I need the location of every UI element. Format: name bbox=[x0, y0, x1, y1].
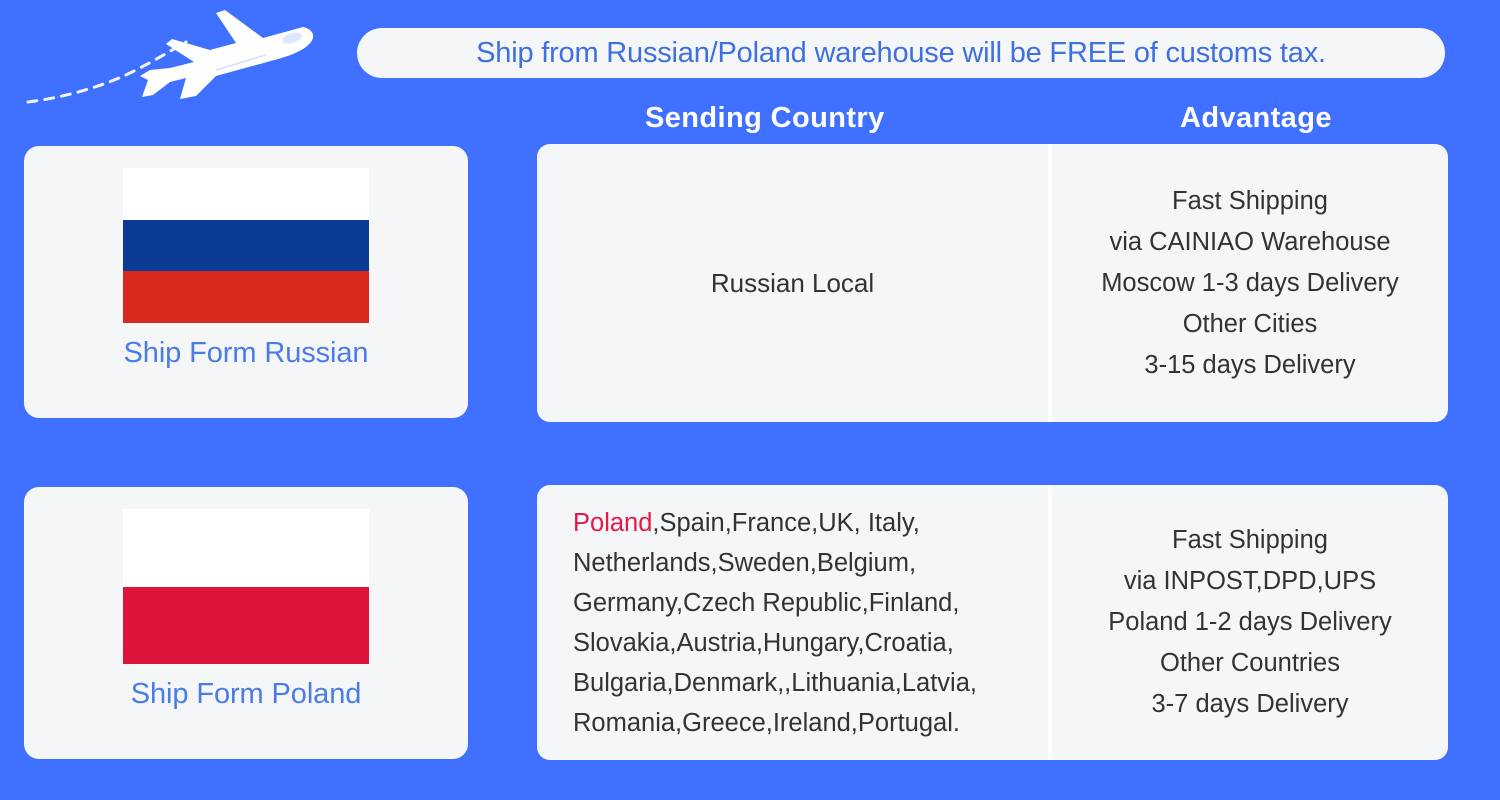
country-first-line-rest: ,Spain,France,UK, Italy, bbox=[652, 509, 919, 537]
banner-text: Ship from Russian/Poland warehouse will … bbox=[476, 37, 1326, 70]
header-advantage: Advantage bbox=[1180, 102, 1332, 135]
country-highlight-poland: Poland bbox=[573, 509, 652, 537]
flag-stripe-red bbox=[123, 587, 369, 665]
country-line: Bulgaria,Denmark,,Lithuania,Latvia, bbox=[573, 669, 977, 697]
sending-country-cell-russia: Russian Local bbox=[537, 144, 1048, 422]
flag-stripe-white bbox=[123, 509, 369, 587]
russia-flag-icon bbox=[123, 168, 369, 323]
country-list-poland: Poland,Spain,France,UK, Italy, Netherlan… bbox=[573, 503, 1012, 743]
sending-country-cell-poland: Poland,Spain,France,UK, Italy, Netherlan… bbox=[537, 485, 1048, 760]
info-card-poland: Poland,Spain,France,UK, Italy, Netherlan… bbox=[537, 485, 1448, 760]
advantage-line: 3-15 days Delivery bbox=[1144, 345, 1355, 386]
advantage-line: via INPOST,DPD,UPS bbox=[1124, 561, 1376, 602]
advantage-cell-poland: Fast Shipping via INPOST,DPD,UPS Poland … bbox=[1052, 485, 1448, 760]
country-line: Netherlands,Sweden,Belgium, bbox=[573, 549, 916, 577]
flag-stripe-white bbox=[123, 168, 369, 220]
advantage-line: Poland 1-2 days Delivery bbox=[1108, 602, 1391, 643]
advantage-line: 3-7 days Delivery bbox=[1152, 684, 1349, 725]
flag-stripe-blue bbox=[123, 220, 369, 272]
country-line: Slovakia,Austria,Hungary,Croatia, bbox=[573, 629, 954, 657]
advantage-cell-russia: Fast Shipping via CAINIAO Warehouse Mosc… bbox=[1052, 144, 1448, 422]
poland-flag-icon bbox=[123, 509, 369, 664]
flag-stripe-red bbox=[123, 271, 369, 323]
airplane-icon bbox=[20, 2, 330, 107]
header-sending-country: Sending Country bbox=[645, 102, 885, 135]
advantage-line: via CAINIAO Warehouse bbox=[1109, 222, 1390, 263]
flag-card-poland[interactable]: Ship Form Poland bbox=[24, 487, 468, 759]
flag-caption-poland: Ship Form Poland bbox=[131, 678, 362, 711]
advantage-line: Moscow 1-3 days Delivery bbox=[1101, 263, 1399, 304]
country-text-russia: Russian Local bbox=[573, 268, 1012, 299]
country-line: Romania,Greece,Ireland,Portugal. bbox=[573, 709, 960, 737]
advantage-line: Other Countries bbox=[1160, 643, 1340, 684]
shipping-info-banner: Ship from Russian/Poland warehouse will … bbox=[0, 0, 1500, 800]
advantage-line: Fast Shipping bbox=[1172, 520, 1328, 561]
info-card-russia: Russian Local Fast Shipping via CAINIAO … bbox=[537, 144, 1448, 422]
flag-caption-russia: Ship Form Russian bbox=[124, 337, 369, 370]
advantage-line: Fast Shipping bbox=[1172, 181, 1328, 222]
advantage-line: Other Cities bbox=[1183, 304, 1318, 345]
country-line: Germany,Czech Republic,Finland, bbox=[573, 589, 959, 617]
flag-card-russia[interactable]: Ship Form Russian bbox=[24, 146, 468, 418]
customs-tax-banner: Ship from Russian/Poland warehouse will … bbox=[357, 28, 1445, 78]
